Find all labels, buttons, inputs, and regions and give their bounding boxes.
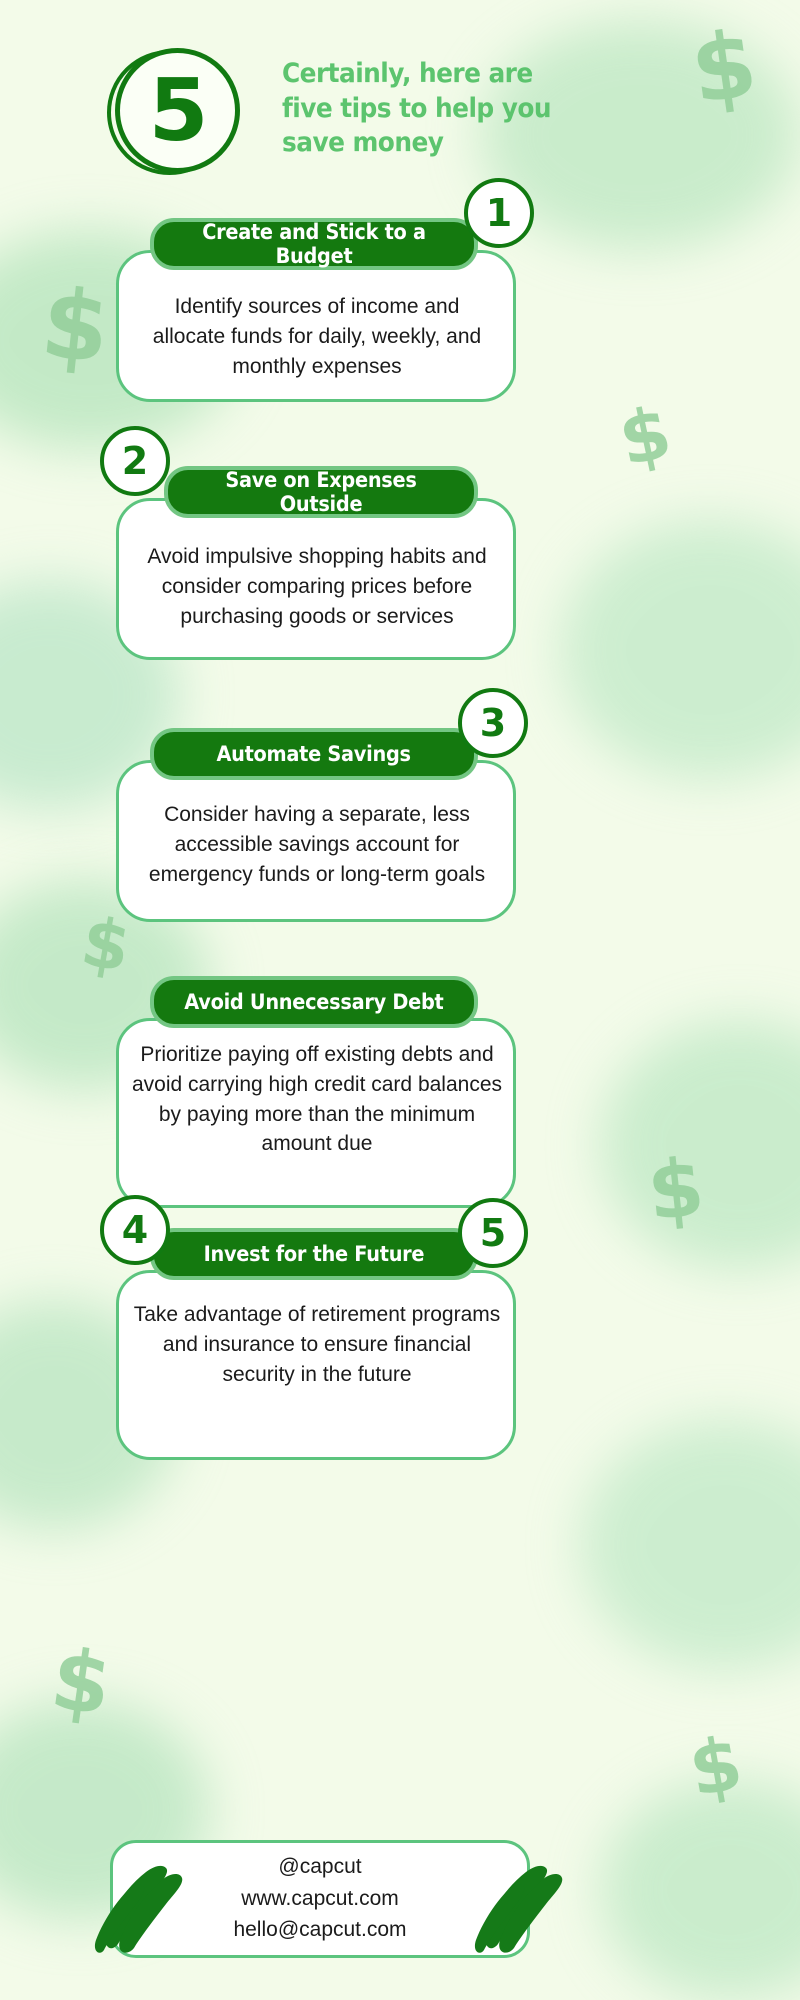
tip-card-badge: 2	[100, 426, 170, 496]
tip-card-badge: 4	[100, 1195, 170, 1265]
tip-card-badge: 5	[458, 1198, 528, 1268]
footer-handle: @capcut	[278, 1853, 361, 1882]
tip-card-title-label: Automate Savings	[217, 742, 411, 766]
tip-card-text: Identify sources of income and allocate …	[136, 292, 498, 381]
infographic-page: 5 Certainly, here are five tips to help …	[0, 0, 800, 2000]
tip-card-badge-number: 5	[480, 1211, 506, 1255]
tip-card-text: Avoid impulsive shopping habits and cons…	[130, 542, 504, 631]
hero-number-circle: 5	[115, 48, 240, 173]
tip-card-title-label: Create and Stick to a Budget	[183, 220, 444, 268]
tip-card-title: Save on Expenses Outside	[164, 466, 478, 518]
tip-card-badge-number: 4	[122, 1208, 148, 1252]
footer-email[interactable]: hello@capcut.com	[233, 1916, 406, 1945]
tip-card-title-label: Save on Expenses Outside	[197, 468, 445, 516]
tip-card-badge: 3	[458, 688, 528, 758]
tip-card-title-label: Avoid Unnecessary Debt	[184, 990, 443, 1014]
tip-card-title: Automate Savings	[150, 728, 478, 780]
tip-card-title: Avoid Unnecessary Debt	[150, 976, 478, 1028]
tip-card-text: Take advantage of retirement programs an…	[128, 1300, 506, 1389]
tip-card-badge-number: 1	[486, 191, 512, 235]
tip-card-badge: 1	[464, 178, 534, 248]
contact-footer: @capcut www.capcut.com hello@capcut.com	[110, 1840, 530, 1958]
tip-card-title: Create and Stick to a Budget	[150, 218, 478, 270]
tip-card-badge-number: 2	[122, 439, 148, 483]
tip-card-badge-number: 3	[480, 701, 506, 745]
tip-card-text: Consider having a separate, less accessi…	[130, 800, 504, 889]
hero-number: 5	[115, 48, 240, 173]
tip-card-text: Prioritize paying off existing debts and…	[128, 1040, 506, 1159]
tip-card-title-label: Invest for the Future	[204, 1242, 425, 1266]
footer-website[interactable]: www.capcut.com	[241, 1885, 399, 1914]
tip-card-title: Invest for the Future	[150, 1228, 478, 1280]
header-section: 5 Certainly, here are five tips to help …	[0, 0, 800, 215]
page-title: Certainly, here are five tips to help yo…	[282, 57, 586, 161]
